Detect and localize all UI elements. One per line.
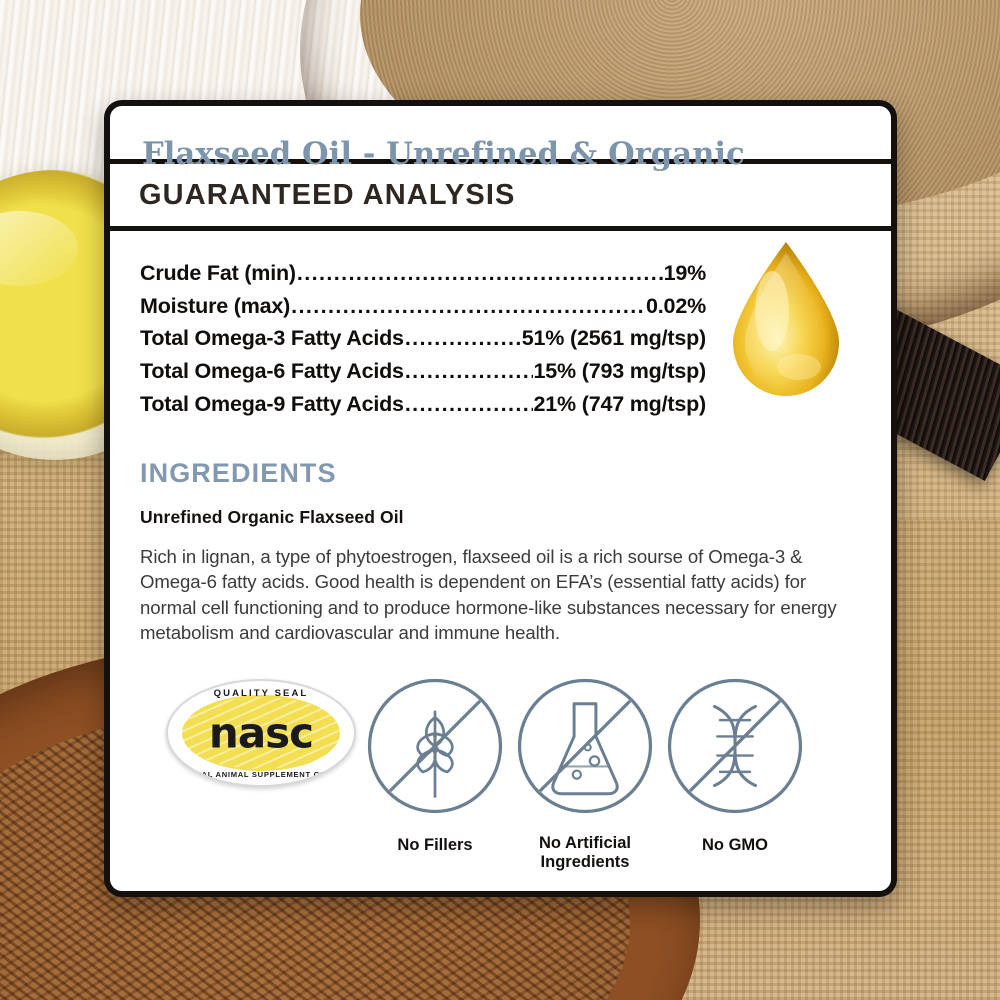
dot-leader: ........................................…: [297, 257, 663, 290]
table-row: Total Omega-9 Fatty Acids ..............…: [140, 388, 706, 421]
table-row: Total Omega-3 Fatty Acids ..............…: [140, 322, 706, 355]
table-row: Moisture (max) .........................…: [140, 290, 706, 323]
analysis-row-value: 0.02%: [646, 290, 706, 323]
badge-no-artificial-ingredients: No Artificial Ingredients: [510, 671, 660, 872]
analysis-row-value: 15% (793 mg/tsp): [534, 355, 706, 388]
ingredients-list: Unrefined Organic Flaxseed Oil: [110, 489, 891, 528]
product-label-card: Flaxseed Oil - Unrefined & Organic GUARA…: [104, 100, 897, 897]
dna-helix-crossed-out-icon: [660, 671, 810, 821]
analysis-row-name: Crude Fat (min): [140, 257, 296, 290]
dot-leader: ........................................…: [405, 322, 521, 355]
seal-main-text: nasc: [168, 708, 354, 757]
analysis-row-value: 21% (747 mg/tsp): [534, 388, 706, 421]
oil-droplet-icon: [727, 239, 845, 399]
flask-crossed-out-icon: [510, 671, 660, 821]
seal-top-text: QUALITY SEAL: [168, 688, 354, 699]
dot-leader: ........................................…: [405, 355, 533, 388]
trust-badges: QUALITY SEAL nasc NATIONAL ANIMAL SUPPLE…: [110, 645, 891, 872]
analysis-row-name: Total Omega-6 Fatty Acids: [140, 355, 404, 388]
nasc-quality-seal: QUALITY SEAL nasc NATIONAL ANIMAL SUPPLE…: [166, 671, 360, 787]
dot-leader: ........................................…: [405, 388, 533, 421]
badge-label-line2: Ingredients: [510, 853, 660, 872]
table-row: Total Omega-6 Fatty Acids ..............…: [140, 355, 706, 388]
ingredients-heading: INGREDIENTS: [110, 420, 891, 489]
table-row: Crude Fat (min) ........................…: [140, 257, 706, 290]
badge-label-line1: No Artificial: [510, 834, 660, 853]
wheat-stalk-crossed-out-icon: [360, 671, 510, 821]
badge-no-gmo: No GMO: [660, 671, 810, 855]
badge-label: No GMO: [660, 836, 810, 855]
analysis-row-name: Moisture (max): [140, 290, 290, 323]
product-description: Rich in lignan, a type of phytoestrogen,…: [110, 528, 891, 644]
analysis-row-name: Total Omega-3 Fatty Acids: [140, 322, 404, 355]
analysis-row-name: Total Omega-9 Fatty Acids: [140, 388, 404, 421]
badge-no-fillers: No Fillers: [360, 671, 510, 855]
dot-leader: ........................................…: [291, 290, 645, 323]
analysis-row-value: 51% (2561 mg/tsp): [522, 322, 706, 355]
seal-oval: QUALITY SEAL nasc NATIONAL ANIMAL SUPPLE…: [166, 679, 356, 787]
badge-label: No Artificial Ingredients: [510, 834, 660, 872]
guaranteed-analysis-table: Crude Fat (min) ........................…: [110, 231, 891, 420]
seal-bottom-text: NATIONAL ANIMAL SUPPLEMENT COUNCIL: [168, 770, 354, 779]
page-title: Flaxseed Oil - Unrefined & Organic: [110, 106, 891, 159]
guaranteed-analysis-heading: GUARANTEED ANALYSIS: [110, 164, 891, 226]
analysis-row-value: 19%: [664, 257, 706, 290]
badge-label: No Fillers: [360, 836, 510, 855]
